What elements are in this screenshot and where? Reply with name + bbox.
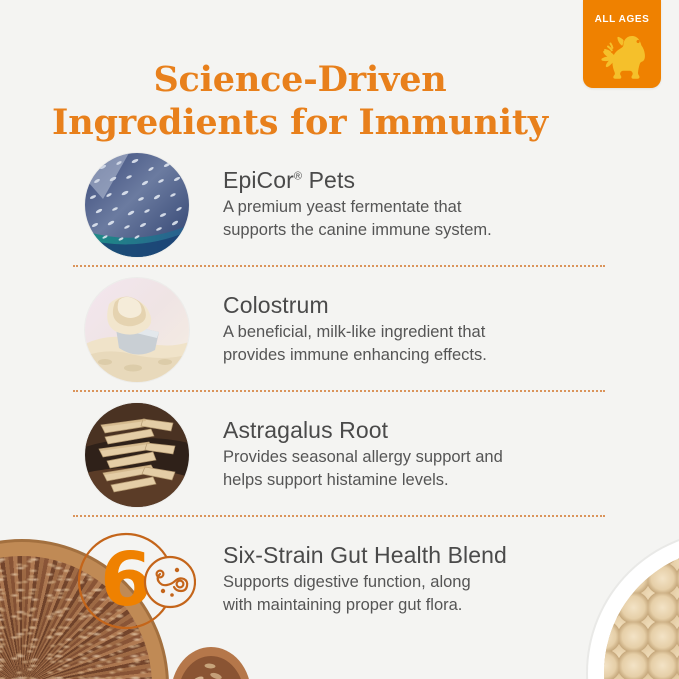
thumbnail-wrapper bbox=[73, 403, 201, 507]
list-item: EpiCor® Pets A premium yeast fermentate … bbox=[0, 142, 679, 267]
ingredient-description-line: A beneficial, milk-like ingredient that bbox=[223, 321, 487, 343]
dog-icon bbox=[594, 30, 650, 80]
ingredient-description: Provides seasonal allergy support and he… bbox=[223, 446, 503, 491]
list-item: Astragalus Root Provides seasonal allerg… bbox=[0, 392, 679, 517]
ingredient-title: EpiCor® Pets bbox=[223, 168, 492, 194]
petri-dish-colonies-image bbox=[85, 153, 189, 257]
ingredient-description-line: Provides seasonal allergy support and bbox=[223, 446, 503, 468]
ingredient-description-line: provides immune enhancing effects. bbox=[223, 344, 487, 366]
ingredient-title-main: EpiCor bbox=[223, 167, 294, 193]
infographic-panel: ALL AGES Science-Driven Ingredients for … bbox=[0, 0, 679, 679]
item-text: EpiCor® Pets A premium yeast fermentate … bbox=[201, 168, 512, 242]
item-text: Six-Strain Gut Health Blend Supports dig… bbox=[201, 543, 527, 617]
ingredient-description: Supports digestive function, along with … bbox=[223, 571, 507, 616]
ingredient-description-line: A premium yeast fermentate that bbox=[223, 196, 492, 218]
ingredient-description: A premium yeast fermentate that supports… bbox=[223, 196, 492, 241]
page-title: Science-Driven Ingredients for Immunity bbox=[0, 59, 600, 144]
ingredient-description: A beneficial, milk-like ingredient that … bbox=[223, 321, 487, 366]
all-ages-badge-label: ALL AGES bbox=[583, 14, 661, 25]
list-item: 6 S bbox=[0, 517, 679, 642]
item-text: Colostrum A beneficial, milk-like ingred… bbox=[201, 293, 507, 367]
all-ages-badge: ALL AGES bbox=[583, 0, 661, 88]
thumbnail-wrapper: 6 bbox=[73, 528, 201, 632]
ingredient-description-line: with maintaining proper gut flora. bbox=[223, 594, 507, 616]
ingredient-title-suffix: Pets bbox=[302, 167, 355, 193]
item-text: Astragalus Root Provides seasonal allerg… bbox=[201, 418, 523, 492]
ingredient-title: Colostrum bbox=[223, 293, 487, 319]
ingredient-title: Astragalus Root bbox=[223, 418, 503, 444]
six-strain-icon: 6 bbox=[78, 528, 196, 632]
registered-trademark-icon: ® bbox=[294, 170, 302, 182]
page-title-line2: Ingredients for Immunity bbox=[0, 102, 600, 145]
thumbnail-wrapper bbox=[73, 278, 201, 382]
thumbnail-wrapper bbox=[73, 153, 201, 257]
ingredient-description-line: Supports digestive function, along bbox=[223, 571, 507, 593]
ingredient-list: EpiCor® Pets A premium yeast fermentate … bbox=[0, 142, 679, 642]
list-item: Colostrum A beneficial, milk-like ingred… bbox=[0, 267, 679, 392]
colostrum-powder-image bbox=[85, 278, 189, 382]
ingredient-title: Six-Strain Gut Health Blend bbox=[223, 543, 507, 569]
ingredient-description-line: supports the canine immune system. bbox=[223, 219, 492, 241]
ingredient-description-line: helps support histamine levels. bbox=[223, 469, 503, 491]
astragalus-root-image bbox=[85, 403, 189, 507]
page-title-line1: Science-Driven bbox=[153, 59, 446, 100]
